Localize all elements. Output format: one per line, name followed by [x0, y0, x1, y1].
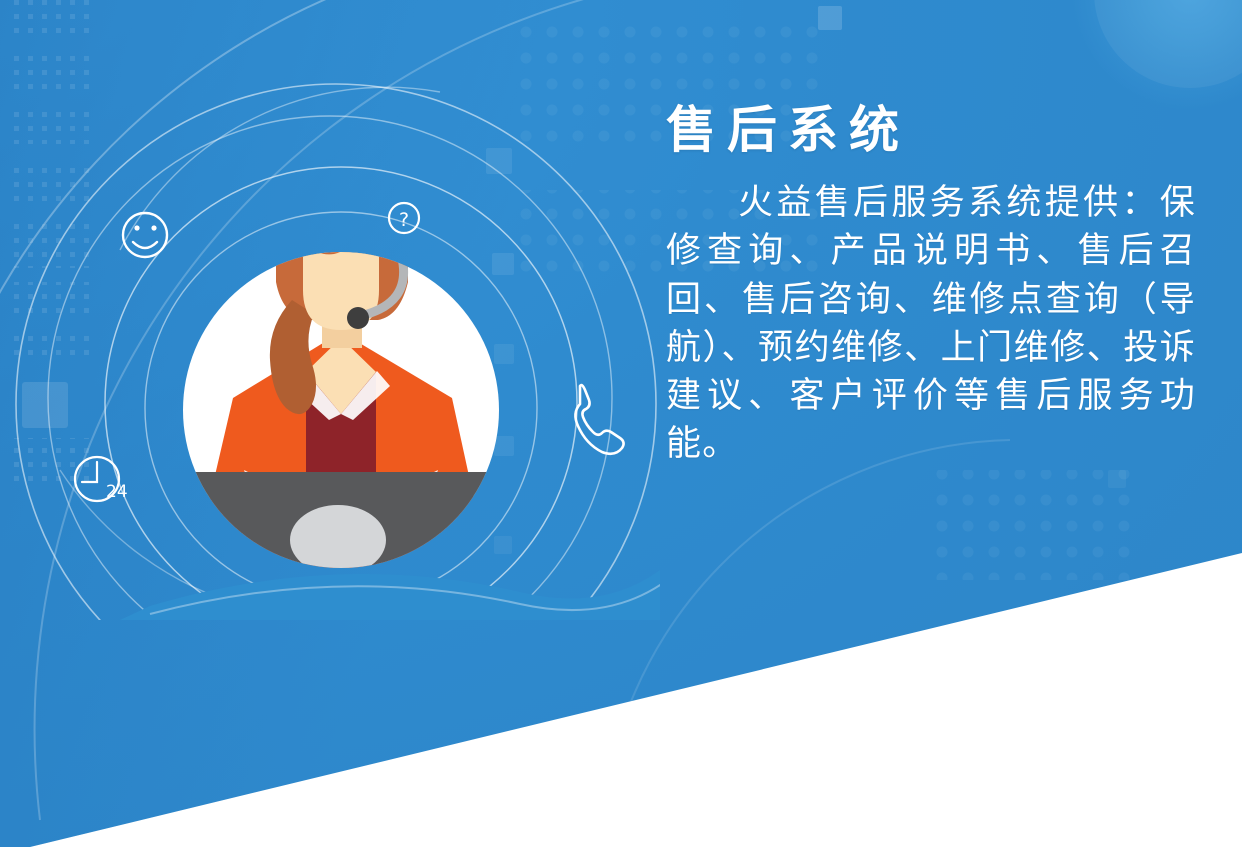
agent-fringe [276, 138, 408, 254]
svg-text:?: ? [399, 209, 409, 231]
phone-handset-icon [575, 385, 623, 454]
customer-service-illustration: ? 24 [0, 0, 660, 620]
question-mark-icon: ? [389, 203, 419, 233]
description-paragraph: 火益售后服务系统提供：保修查询、产品说明书、售后召回、售后咨询、维修点查询（导航… [666, 179, 1196, 469]
laptop-logo [290, 505, 386, 575]
text-column: 售后系统 火益售后服务系统提供：保修查询、产品说明书、售后召回、售后咨询、维修点… [666, 104, 1196, 469]
slide-canvas: ? 24 售后系统 火益售后服务系统提供：保修查询、产品说明书、售后召回、售后咨… [0, 0, 1242, 847]
svg-text:24: 24 [106, 482, 128, 502]
clock-24-icon: 24 [75, 457, 128, 502]
page-title: 售后系统 [666, 104, 1196, 157]
smiley-icon [123, 213, 167, 257]
